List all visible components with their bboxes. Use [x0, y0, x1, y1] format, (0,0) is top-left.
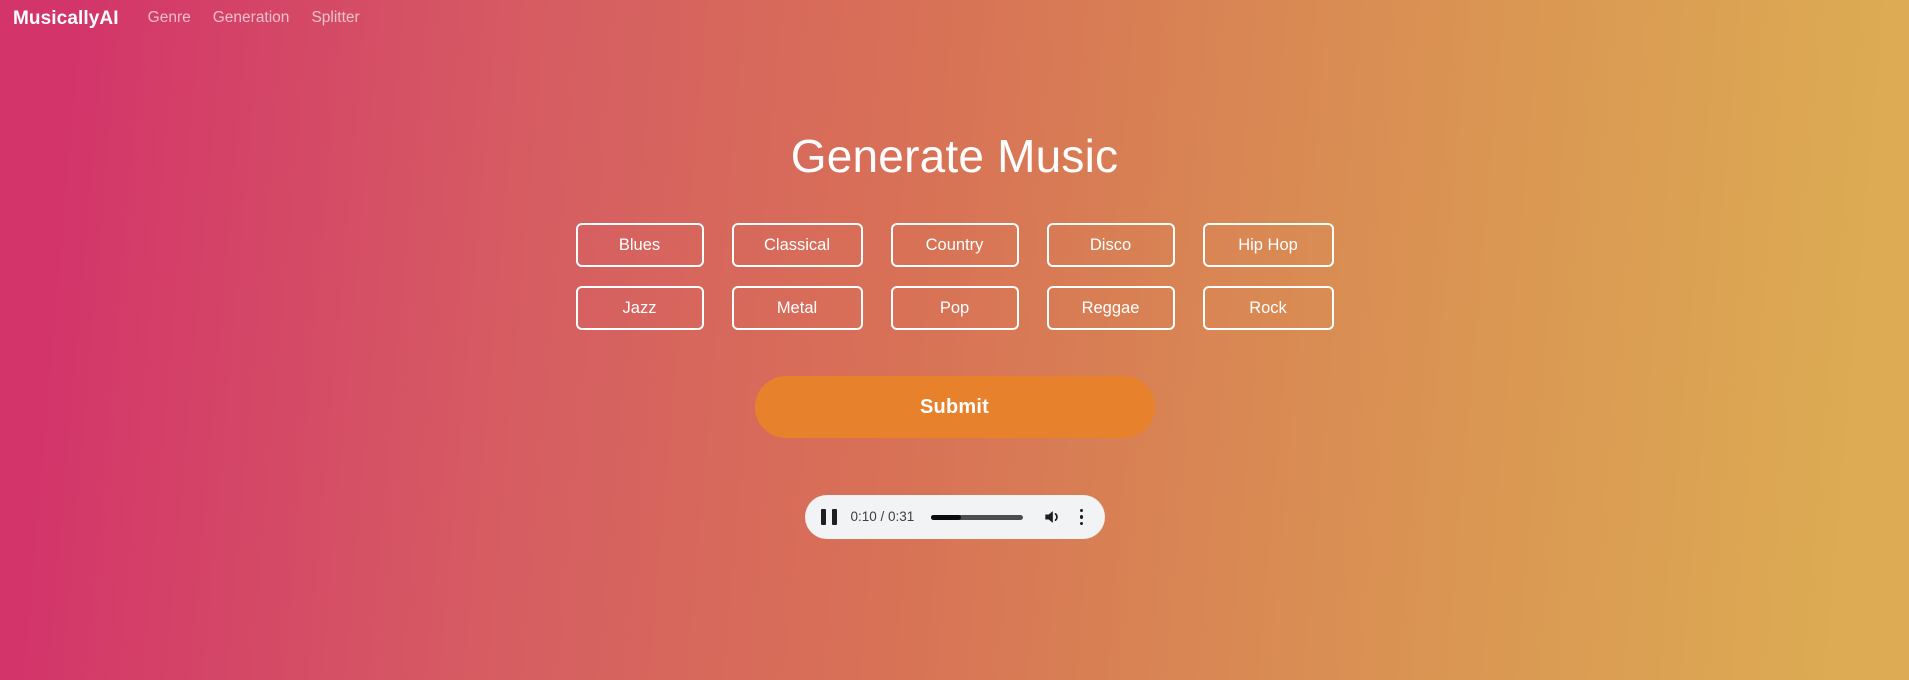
nav-links: Genre Generation Splitter	[148, 10, 360, 26]
navbar: MusicallyAI Genre Generation Splitter	[0, 0, 1909, 36]
more-vertical-icon[interactable]	[1073, 506, 1091, 528]
audio-player[interactable]: 0:10 / 0:31	[805, 495, 1105, 539]
nav-link-genre[interactable]: Genre	[148, 10, 191, 26]
audio-progress-fill	[931, 515, 961, 520]
page-title: Generate Music	[791, 133, 1119, 179]
nav-link-generation[interactable]: Generation	[213, 10, 290, 26]
brand-logo[interactable]: MusicallyAI	[13, 9, 119, 28]
main-content: Generate Music Blues Classical Country D…	[0, 36, 1909, 680]
audio-time-display: 0:10 / 0:31	[851, 510, 915, 524]
pause-icon[interactable]	[821, 509, 837, 526]
genre-button-jazz[interactable]: Jazz	[576, 286, 704, 330]
nav-link-splitter[interactable]: Splitter	[311, 10, 359, 26]
genre-button-hip-hop[interactable]: Hip Hop	[1203, 223, 1334, 267]
audio-progress-slider[interactable]	[931, 515, 1022, 520]
genre-button-metal[interactable]: Metal	[732, 286, 863, 330]
genre-button-classical[interactable]: Classical	[732, 223, 863, 267]
genre-selection-grid: Blues Classical Country Disco Hip Hop Ja…	[576, 223, 1334, 330]
genre-button-pop[interactable]: Pop	[891, 286, 1019, 330]
volume-on-icon[interactable]	[1041, 506, 1063, 528]
genre-button-disco[interactable]: Disco	[1047, 223, 1175, 267]
submit-button[interactable]: Submit	[755, 376, 1155, 438]
genre-button-blues[interactable]: Blues	[576, 223, 704, 267]
genre-button-reggae[interactable]: Reggae	[1047, 286, 1175, 330]
genre-button-country[interactable]: Country	[891, 223, 1019, 267]
genre-button-rock[interactable]: Rock	[1203, 286, 1334, 330]
